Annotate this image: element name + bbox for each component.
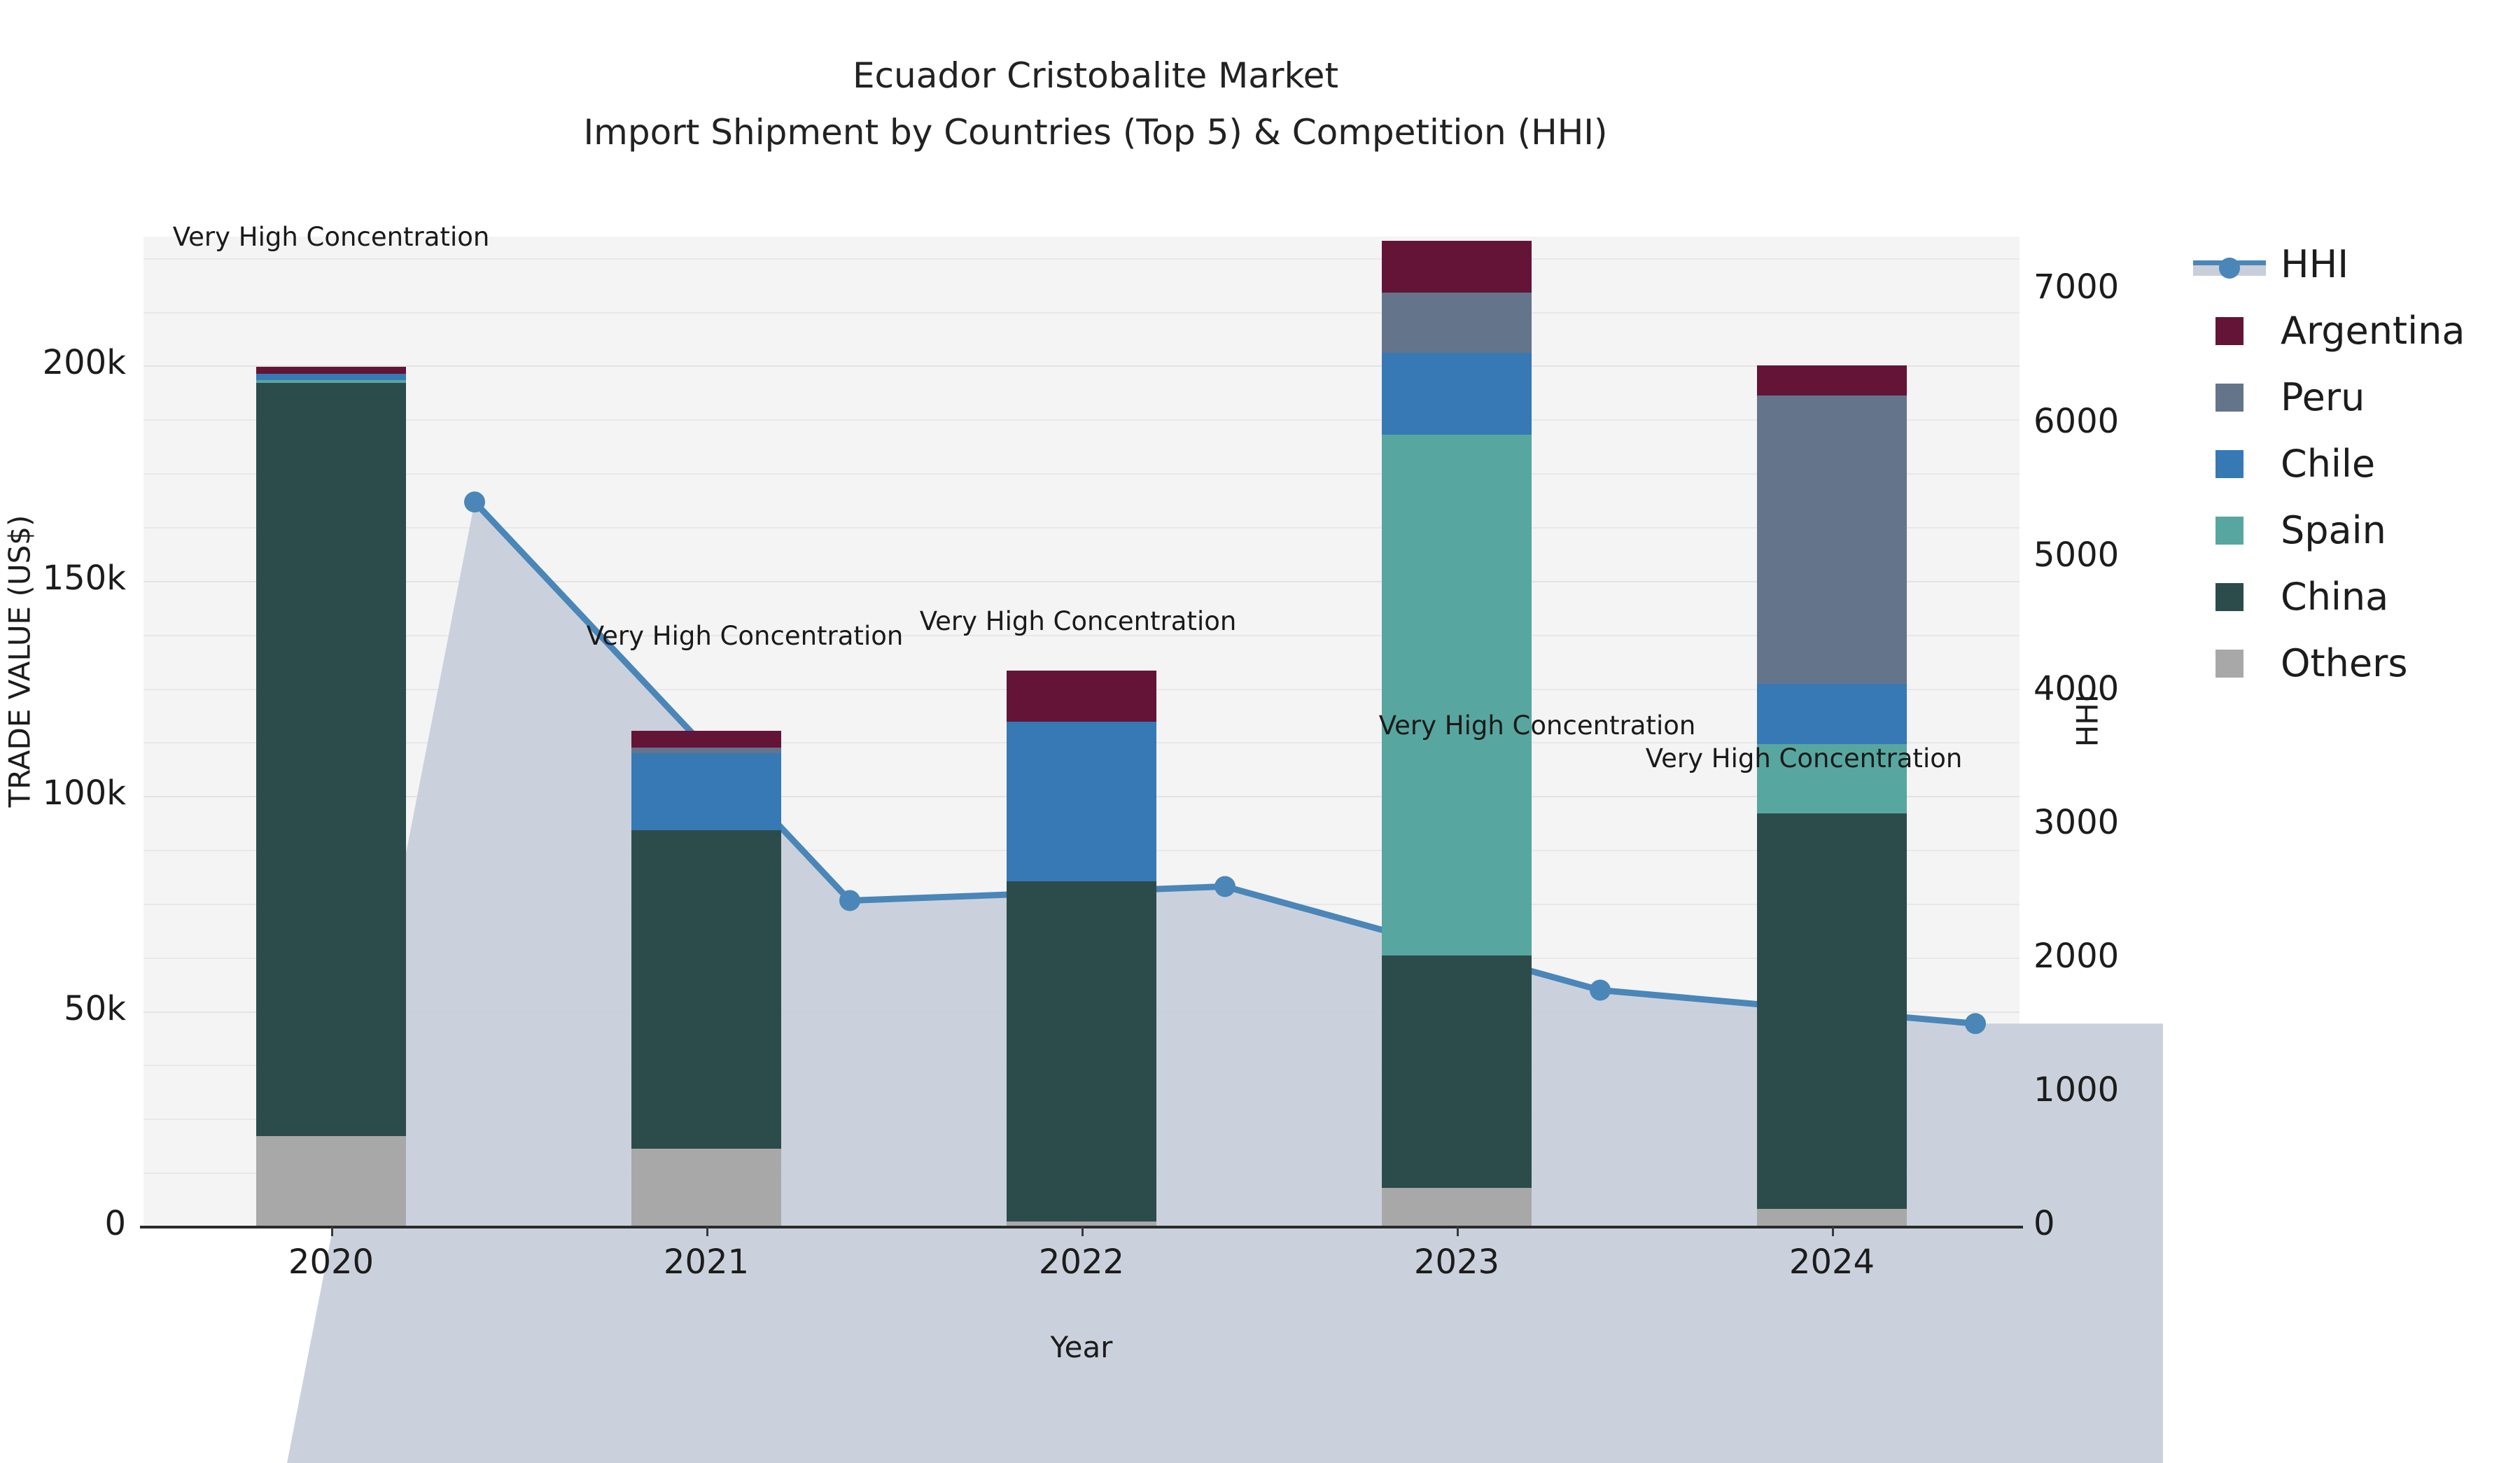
legend-key <box>2191 650 2268 678</box>
legend: HHIArgentinaPeruChileSpainChinaOthers <box>2191 231 2520 696</box>
hhi-marker[interactable] <box>1214 876 1235 897</box>
x-axis-tickmark <box>1081 1226 1084 1236</box>
y-axis-right-title: HHI <box>2071 651 2105 791</box>
bar-segment-chile[interactable] <box>256 374 406 381</box>
legend-label: HHI <box>2281 246 2348 283</box>
y-axis-right-tick-label: 3000 <box>2033 803 2194 842</box>
legend-line-key-icon <box>2193 251 2266 279</box>
legend-label: Others <box>2281 645 2407 682</box>
legend-item-hhi[interactable]: HHI <box>2191 231 2520 297</box>
bar-segment-spain[interactable] <box>1382 435 1532 955</box>
plot-area: Very High ConcentrationVery High Concent… <box>143 237 2019 1226</box>
annotation-very-high-concentration: Very High Concentration <box>1646 743 1963 773</box>
bar-segment-china[interactable] <box>1382 955 1532 1188</box>
legend-key <box>2191 251 2268 279</box>
legend-item-argentina[interactable]: Argentina <box>2191 297 2520 364</box>
legend-label: Spain <box>2281 512 2386 549</box>
x-axis-tick-label: 2020 <box>212 1242 450 1282</box>
legend-marker-dot-icon <box>2219 258 2240 279</box>
annotation-very-high-concentration: Very High Concentration <box>1379 710 1696 741</box>
hhi-marker[interactable] <box>464 491 485 512</box>
x-axis-tickmark <box>331 1226 333 1236</box>
x-axis-tick-label: 2021 <box>587 1242 825 1282</box>
x-axis-tickmark <box>706 1226 708 1236</box>
y-axis-right-tick-label: 0 <box>2033 1204 2194 1243</box>
annotation-very-high-concentration: Very High Concentration <box>920 606 1237 636</box>
bar-segment-china[interactable] <box>256 383 406 1136</box>
legend-item-spain[interactable]: Spain <box>2191 497 2520 563</box>
legend-key <box>2191 450 2268 478</box>
legend-key <box>2191 517 2268 545</box>
legend-label: Argentina <box>2281 312 2465 350</box>
y-axis-left-tick-label: 50k <box>14 989 126 1028</box>
legend-swatch-icon <box>2215 583 2243 611</box>
bar-stack[interactable] <box>631 237 781 1226</box>
page-title: Ecuador Cristobalite Market Import Shipm… <box>0 55 2191 154</box>
legend-item-peru[interactable]: Peru <box>2191 364 2520 430</box>
bar-segment-chile[interactable] <box>1757 684 1907 744</box>
x-axis-title: Year <box>143 1330 2019 1364</box>
annotation-very-high-concentration: Very High Concentration <box>587 621 904 651</box>
legend-swatch-icon <box>2215 650 2243 678</box>
hhi-marker[interactable] <box>839 890 860 911</box>
legend-key <box>2191 583 2268 611</box>
bar-segment-chile[interactable] <box>1007 722 1156 881</box>
title-line-1: Ecuador Cristobalite Market <box>0 55 2191 97</box>
bar-segment-argentina[interactable] <box>631 731 781 748</box>
x-axis-tick-label: 2023 <box>1338 1242 1576 1282</box>
legend-item-china[interactable]: China <box>2191 563 2520 630</box>
bar-segment-peru[interactable] <box>1382 293 1532 353</box>
legend-swatch-icon <box>2215 517 2243 545</box>
legend-swatch-icon <box>2215 384 2243 412</box>
bar-segment-argentina[interactable] <box>1382 241 1532 293</box>
bar-stack[interactable] <box>1757 237 1907 1226</box>
y-axis-right-tick-label: 6000 <box>2033 402 2194 441</box>
y-axis-right-tick-label: 1000 <box>2033 1070 2194 1109</box>
legend-item-others[interactable]: Others <box>2191 630 2520 696</box>
y-axis-right-tick-label: 5000 <box>2033 535 2194 575</box>
legend-swatch-icon <box>2215 317 2243 345</box>
x-axis-tick-label: 2024 <box>1713 1242 1951 1282</box>
bar-segment-china[interactable] <box>1757 813 1907 1210</box>
legend-label: China <box>2281 578 2388 616</box>
x-axis-tick-label: 2022 <box>962 1242 1200 1282</box>
bar-segment-others[interactable] <box>256 1136 406 1226</box>
annotation-very-high-concentration: Very High Concentration <box>173 222 490 252</box>
legend-item-chile[interactable]: Chile <box>2191 430 2520 497</box>
title-line-2: Import Shipment by Countries (Top 5) & C… <box>0 111 2191 154</box>
y-axis-left-tick-label: 200k <box>14 343 126 382</box>
bar-segment-others[interactable] <box>1382 1188 1532 1226</box>
y-axis-left-title: TRADE VALUE (US$) <box>3 395 37 927</box>
bar-segment-argentina[interactable] <box>256 367 406 373</box>
bar-segment-chile[interactable] <box>1382 353 1532 435</box>
legend-label: Peru <box>2281 379 2365 416</box>
legend-key <box>2191 317 2268 345</box>
legend-swatch-icon <box>2215 450 2243 478</box>
bar-stack[interactable] <box>1007 237 1156 1226</box>
legend-label: Chile <box>2281 445 2375 483</box>
bar-stack[interactable] <box>256 237 406 1226</box>
bar-segment-chile[interactable] <box>631 753 781 831</box>
chart-root: Ecuador Cristobalite Market Import Shipm… <box>0 0 2520 1417</box>
bar-segment-peru[interactable] <box>1757 395 1907 684</box>
hhi-marker[interactable] <box>1965 1013 1986 1034</box>
y-axis-left-tick-label: 0 <box>14 1204 126 1243</box>
x-axis-tickmark <box>1457 1226 1459 1236</box>
x-axis-tickmark <box>1832 1226 1834 1236</box>
hhi-marker[interactable] <box>1590 980 1611 1001</box>
bar-segment-argentina[interactable] <box>1757 365 1907 395</box>
bar-segment-argentina[interactable] <box>1007 671 1156 722</box>
bar-segment-peru[interactable] <box>631 748 781 752</box>
bar-segment-spain[interactable] <box>256 380 406 383</box>
y-axis-right-tick-label: 4000 <box>2033 669 2194 708</box>
y-axis-right-tick-label: 2000 <box>2033 937 2194 976</box>
legend-key <box>2191 384 2268 412</box>
bar-segment-china[interactable] <box>631 830 781 1149</box>
bar-segment-others[interactable] <box>631 1149 781 1226</box>
bar-segment-china[interactable] <box>1007 881 1156 1221</box>
y-axis-right-tick-label: 7000 <box>2033 267 2194 307</box>
bar-segment-others[interactable] <box>1757 1209 1907 1226</box>
